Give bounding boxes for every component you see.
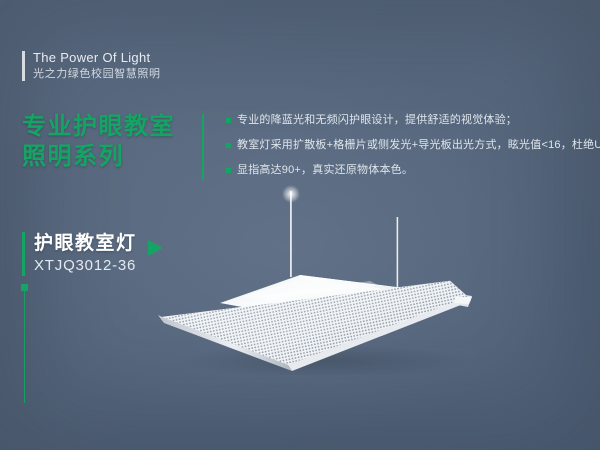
timeline-node-marker xyxy=(21,284,28,291)
bullet-square-icon xyxy=(226,168,231,173)
bullet-square-icon xyxy=(226,118,231,123)
list-item: 专业的降蓝光和无频闪护眼设计，提供舒适的视觉体验； xyxy=(226,112,592,128)
arrow-right-icon xyxy=(148,240,163,256)
product-poster: The Power Of Light 光之力绿色校园智慧照明 专业护眼教室 照明… xyxy=(0,0,600,450)
feature-text: 专业的降蓝光和无频闪护眼设计，提供舒适的视觉体验； xyxy=(237,112,517,128)
product-name-block: 护眼教室灯 XTJQ3012-36 xyxy=(22,232,137,276)
bullet-square-icon xyxy=(226,143,231,148)
vertical-divider xyxy=(202,114,204,180)
feature-text: 教室灯采用扩散板+格栅片或侧发光+导光板出光方式，眩光值<16，杜绝UGR危害； xyxy=(237,137,600,153)
list-item: 显指高达90+，真实还原物体本色。 xyxy=(226,162,592,178)
page-title: 专业护眼教室 照明系列 xyxy=(22,112,175,172)
list-item: 教室灯采用扩散板+格栅片或侧发光+导光板出光方式，眩光值<16，杜绝UGR危害； xyxy=(226,137,592,153)
brand-eyebrow: The Power Of Light 光之力绿色校园智慧照明 xyxy=(22,50,161,82)
product-accent-bar xyxy=(22,232,25,276)
eyebrow-chinese: 光之力绿色校园智慧照明 xyxy=(33,67,161,82)
eyebrow-accent-bar xyxy=(22,51,25,81)
product-model: XTJQ3012-36 xyxy=(34,256,137,276)
product-name: 护眼教室灯 xyxy=(34,232,137,256)
eyebrow-english: The Power Of Light xyxy=(33,50,161,66)
headline-line-1: 专业护眼教室 xyxy=(22,112,175,142)
feature-list: 专业的降蓝光和无频闪护眼设计，提供舒适的视觉体验； 教室灯采用扩散板+格栅片或侧… xyxy=(226,112,592,187)
product-photo xyxy=(150,185,570,375)
headline-line-2: 照明系列 xyxy=(22,142,175,172)
timeline-vertical-line xyxy=(24,291,26,403)
feature-text: 显指高达90+，真实还原物体本色。 xyxy=(237,162,413,178)
